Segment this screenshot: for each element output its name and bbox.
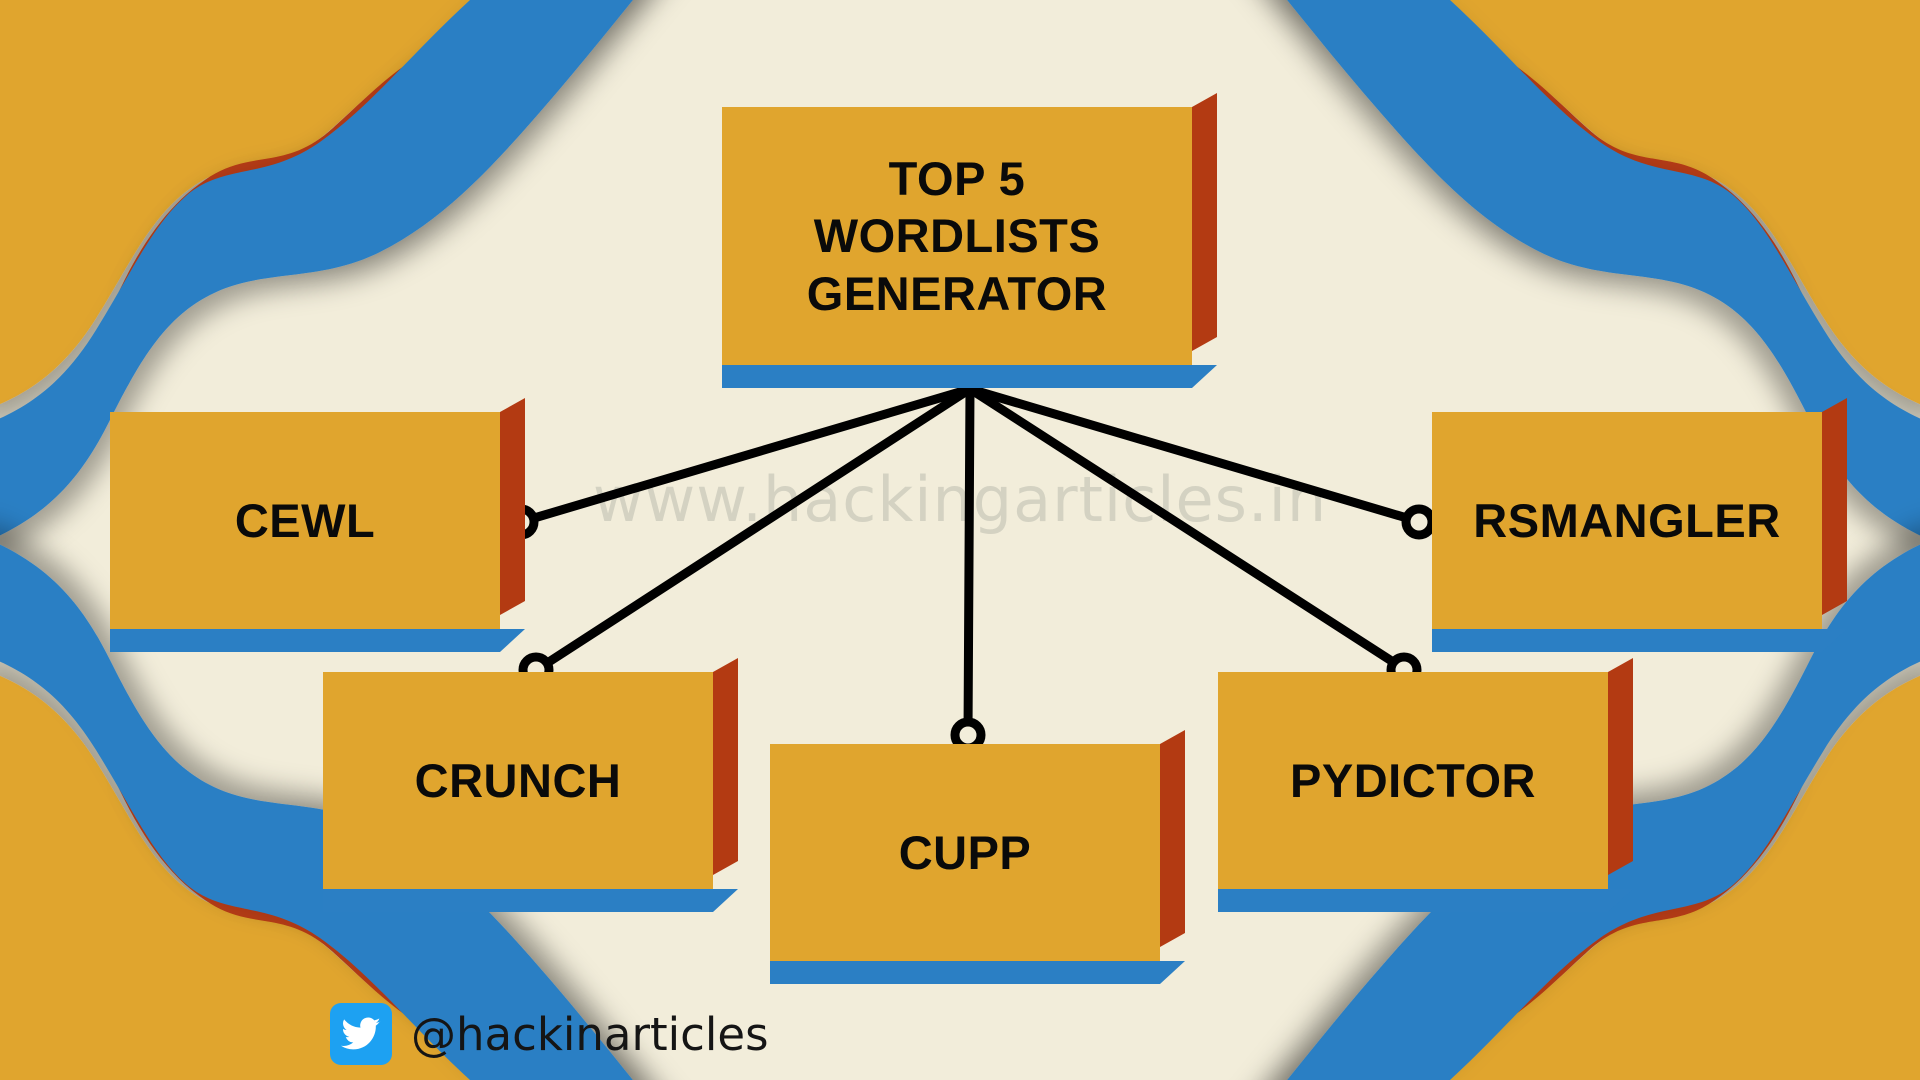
node-title-front-face: TOP 5 WORDLISTS GENERATOR [722, 107, 1192, 365]
node-rsmangler-side-face [1822, 398, 1847, 615]
node-crunch-label: CRUNCH [415, 752, 622, 809]
node-crunch-side-face [713, 658, 738, 875]
node-crunch[interactable]: CRUNCH [323, 672, 713, 889]
node-pydictor-label: PYDICTOR [1290, 752, 1536, 809]
node-cupp-side-face [1160, 730, 1185, 947]
node-title-side-face [1192, 93, 1217, 351]
node-crunch-front-face: CRUNCH [323, 672, 713, 889]
node-title[interactable]: TOP 5 WORDLISTS GENERATOR [722, 107, 1192, 365]
twitter-handle-text: @hackinarticles [411, 1012, 769, 1057]
infographic-canvas: www.hackingarticles.in TOP 5 WOR [0, 0, 1920, 1080]
node-rsmangler-bottom-face [1432, 629, 1847, 652]
node-cewl[interactable]: CEWL [110, 412, 500, 629]
node-cewl-label: CEWL [235, 492, 375, 549]
node-cupp[interactable]: CUPP [770, 744, 1160, 961]
node-pydictor[interactable]: PYDICTOR [1218, 672, 1608, 889]
node-pydictor-bottom-face [1218, 889, 1633, 912]
twitter-footer[interactable]: @hackinarticles [330, 1003, 769, 1065]
node-cupp-label: CUPP [899, 824, 1032, 881]
node-rsmangler-front-face: RSMANGLER [1432, 412, 1822, 629]
node-cupp-front-face: CUPP [770, 744, 1160, 961]
node-cewl-front-face: CEWL [110, 412, 500, 629]
node-cewl-side-face [500, 398, 525, 615]
node-crunch-bottom-face [323, 889, 738, 912]
node-pydictor-side-face [1608, 658, 1633, 875]
node-title-label: TOP 5 WORDLISTS GENERATOR [807, 150, 1107, 322]
node-cewl-bottom-face [110, 629, 525, 652]
node-cupp-bottom-face [770, 961, 1185, 984]
node-rsmangler-label: RSMANGLER [1473, 492, 1780, 549]
node-rsmangler[interactable]: RSMANGLER [1432, 412, 1822, 629]
twitter-bird-icon[interactable] [330, 1003, 392, 1065]
node-title-bottom-face [722, 365, 1217, 388]
node-pydictor-front-face: PYDICTOR [1218, 672, 1608, 889]
